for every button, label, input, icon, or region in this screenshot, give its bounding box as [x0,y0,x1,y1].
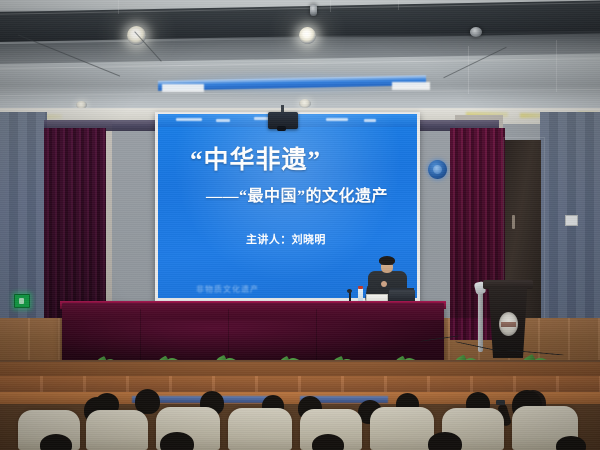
slide-subtitle: ——“最中国”的文化遗产 [206,182,388,206]
tablecloth-fold [316,309,317,363]
door-handle[interactable] [512,215,515,229]
audience-head [428,432,462,450]
slide-speaker-line: 主讲人：刘晓明 [246,231,326,247]
audience-head [160,432,194,450]
bottle-cap [358,286,363,289]
stage-curtain-left [44,128,106,323]
presenter-hair [379,256,395,265]
audience-head [556,436,586,450]
table-shading [62,320,444,363]
ceiling-spotlight [299,27,316,44]
audience-seat[interactable] [228,408,292,450]
ceiling-seam [556,40,557,92]
speaker-podium[interactable] [483,280,533,358]
microphone-head-icon [347,289,352,293]
ceiling-white-light [392,82,430,90]
ceiling-fixture [470,27,482,37]
projector-lens-icon [277,126,286,131]
water-bottle [358,288,363,302]
podium-top [483,280,533,289]
tablecloth-fold [228,309,229,363]
ceiling-seam [330,0,331,12]
podium-rail [478,290,483,352]
wall-acoustic-panel-right [540,112,600,340]
presenter-hand [381,281,387,287]
wall-switch[interactable] [565,215,578,226]
audience-seat[interactable] [370,407,434,450]
emergency-exit-sign [14,294,30,308]
ceiling-seam [468,46,469,94]
wall-speaker-icon [428,160,447,179]
audience-head [312,434,344,450]
slide-footer-text: 非物质文化遗产 [196,284,259,295]
ceiling-white-light [162,84,204,92]
ceiling-seam [398,0,399,10]
lecture-hall-scene: “中华非遗” ——“最中国”的文化遗产 主讲人：刘晓明 非物质文化遗产 [0,0,600,450]
slide-title: “中华非遗” [190,140,321,176]
ceiling-seam [118,0,119,14]
audience-head [40,434,72,450]
podium-emblem-icon [499,312,518,336]
phone-icon [496,400,505,405]
audience-seat[interactable] [86,410,148,450]
tablecloth-fold [140,309,141,363]
ceiling-spotlight [299,99,311,108]
ceiling-sensor-icon [310,4,317,16]
